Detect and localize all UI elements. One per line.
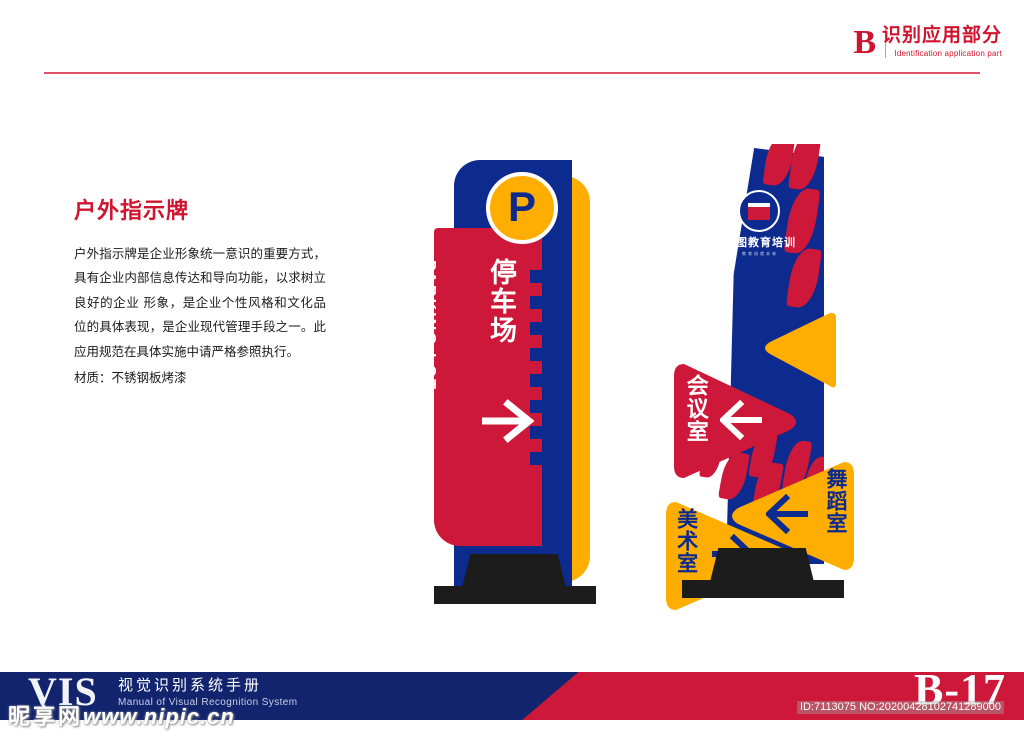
material-text: 材质：不锈钢板烤漆 — [74, 366, 326, 390]
description-text: 户外指示牌是企业形象统一意识的重要方式，具有企业内部信息传达和导向功能，以求树立… — [74, 242, 326, 364]
watermark-cn: 昵享网 — [8, 704, 83, 729]
footer-title-cn: 视觉识别系统手册 — [118, 678, 262, 693]
parking-sign-base-plate — [434, 586, 596, 604]
directory-sign-base-plate — [682, 580, 844, 598]
plate-label-dance-room: 舞蹈室 — [823, 468, 846, 534]
document-page: B 识别应用部分 Identification application part… — [0, 0, 1024, 738]
serration-notch — [530, 348, 542, 361]
arrow-right-icon — [480, 398, 534, 444]
serration-notch — [530, 322, 542, 335]
plate-label-art-room: 美术室 — [674, 508, 697, 574]
page-title: 户外指示牌 — [74, 200, 326, 222]
serration-notch — [530, 296, 542, 309]
parking-p-icon: P — [486, 172, 558, 244]
section-letter: B — [853, 26, 876, 60]
section-title-en: Identification application part — [894, 50, 1002, 58]
plate-label-meeting-room: 会议室 — [684, 374, 708, 443]
asset-id-text: ID:7113075 NO:20200428102741289000 — [797, 701, 1004, 714]
parking-p-letter: P — [508, 186, 536, 228]
logo-emblem-icon — [738, 190, 780, 232]
section-title-cn: 识别应用部分 — [882, 26, 1002, 45]
logo-subtitle: 教育成就未来 — [708, 252, 812, 256]
description-block: 户外指示牌 户外指示牌是企业形象统一意识的重要方式，具有企业内部信息传达和导向功… — [74, 200, 326, 390]
directory-sign-base-column — [710, 548, 814, 582]
header-rule — [44, 72, 980, 74]
watermark: 昵享网www.nipic.cn — [8, 706, 235, 728]
serration-notch — [530, 374, 542, 387]
arrow-left-icon — [720, 400, 764, 440]
watermark-url: www.nipic.cn — [83, 704, 235, 729]
parking-label-cn: 停车场 — [482, 258, 516, 345]
page-header: B 识别应用部分 Identification application part — [0, 0, 1024, 80]
directory-sign-illustration: 千图教育培训 教育成就未来 会议室 舞蹈室 — [666, 140, 856, 600]
logo-name: 千图教育培训 — [708, 238, 812, 249]
parking-label-en: PARKING LOT — [420, 260, 438, 391]
serration-notch — [530, 452, 542, 465]
parking-sign-illustration: P 停车场 PARKING LOT — [424, 150, 614, 598]
logo-book-shape — [748, 203, 770, 220]
serration-notch — [530, 270, 542, 283]
parking-sign-base-column — [462, 554, 566, 588]
